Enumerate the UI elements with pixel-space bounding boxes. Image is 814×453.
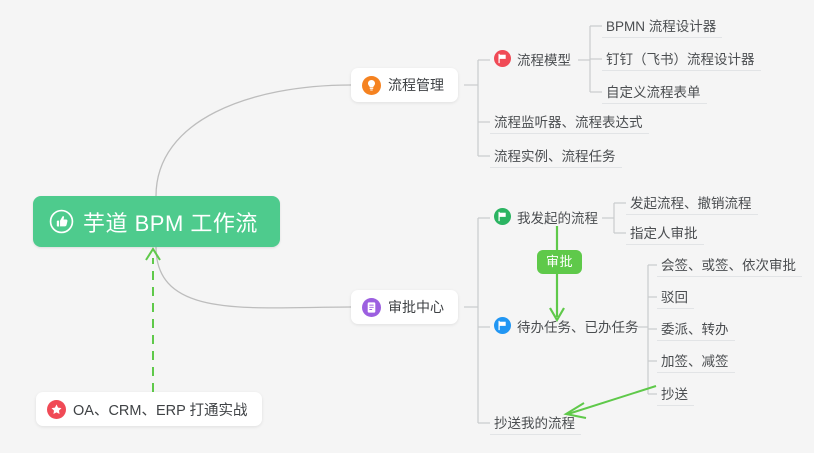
star-icon (47, 400, 66, 419)
root-label: 芋道 BPM 工作流 (83, 206, 258, 238)
flag-icon (494, 208, 511, 225)
leaf-reject[interactable]: 驳回 (657, 283, 694, 309)
thumbs-up-icon (49, 209, 74, 234)
leaf-process-instance[interactable]: 流程实例、流程任务 (490, 142, 622, 168)
sub-branch-label: 我发起的流程 (517, 207, 598, 227)
leaf-countersign[interactable]: 会签、或签、依次审批 (657, 251, 802, 277)
bottom-note-node[interactable]: OA、CRM、ERP 打通实战 (36, 392, 262, 426)
leaf-bpmn-designer[interactable]: BPMN 流程设计器 (602, 12, 722, 38)
leaf-delegate-transfer[interactable]: 委派、转办 (657, 315, 735, 341)
sub-branch-label: 流程模型 (517, 49, 571, 69)
leaf-start-cancel-process[interactable]: 发起流程、撤销流程 (626, 189, 758, 215)
document-icon (362, 298, 381, 317)
leaf-cc-to-me[interactable]: 抄送我的流程 (490, 409, 581, 435)
leaf-dingtalk-designer[interactable]: 钉钉（飞书）流程设计器 (602, 45, 761, 71)
branch-label: 流程管理 (388, 75, 444, 95)
lightbulb-icon (362, 76, 381, 95)
approval-badge: 审批 (537, 250, 582, 274)
sub-branch-todo-done-tasks[interactable]: 待办任务、已办任务 (490, 313, 645, 339)
sub-branch-my-started-processes[interactable]: 我发起的流程 (490, 204, 604, 230)
branch-label: 审批中心 (388, 297, 444, 317)
branch-process-management[interactable]: 流程管理 (351, 68, 458, 102)
bottom-note-label: OA、CRM、ERP 打通实战 (73, 399, 248, 420)
sub-branch-process-model[interactable]: 流程模型 (490, 46, 577, 72)
sub-branch-label: 待办任务、已办任务 (517, 316, 639, 336)
leaf-process-listener[interactable]: 流程监听器、流程表达式 (490, 108, 649, 134)
leaf-cc[interactable]: 抄送 (657, 380, 694, 406)
dashed-arrow-up (146, 249, 160, 392)
leaf-assignee-approval[interactable]: 指定人审批 (626, 219, 704, 245)
flag-icon (494, 50, 511, 67)
flag-icon (494, 317, 511, 334)
branch-approval-center[interactable]: 审批中心 (351, 290, 458, 324)
leaf-add-remove-sign[interactable]: 加签、减签 (657, 347, 735, 373)
leaf-custom-form[interactable]: 自定义流程表单 (602, 78, 707, 104)
mindmap-canvas: 芋道 BPM 工作流 流程管理 流程模型 BPMN 流程设计器 钉钉 (0, 0, 814, 453)
root-node[interactable]: 芋道 BPM 工作流 (33, 196, 280, 247)
